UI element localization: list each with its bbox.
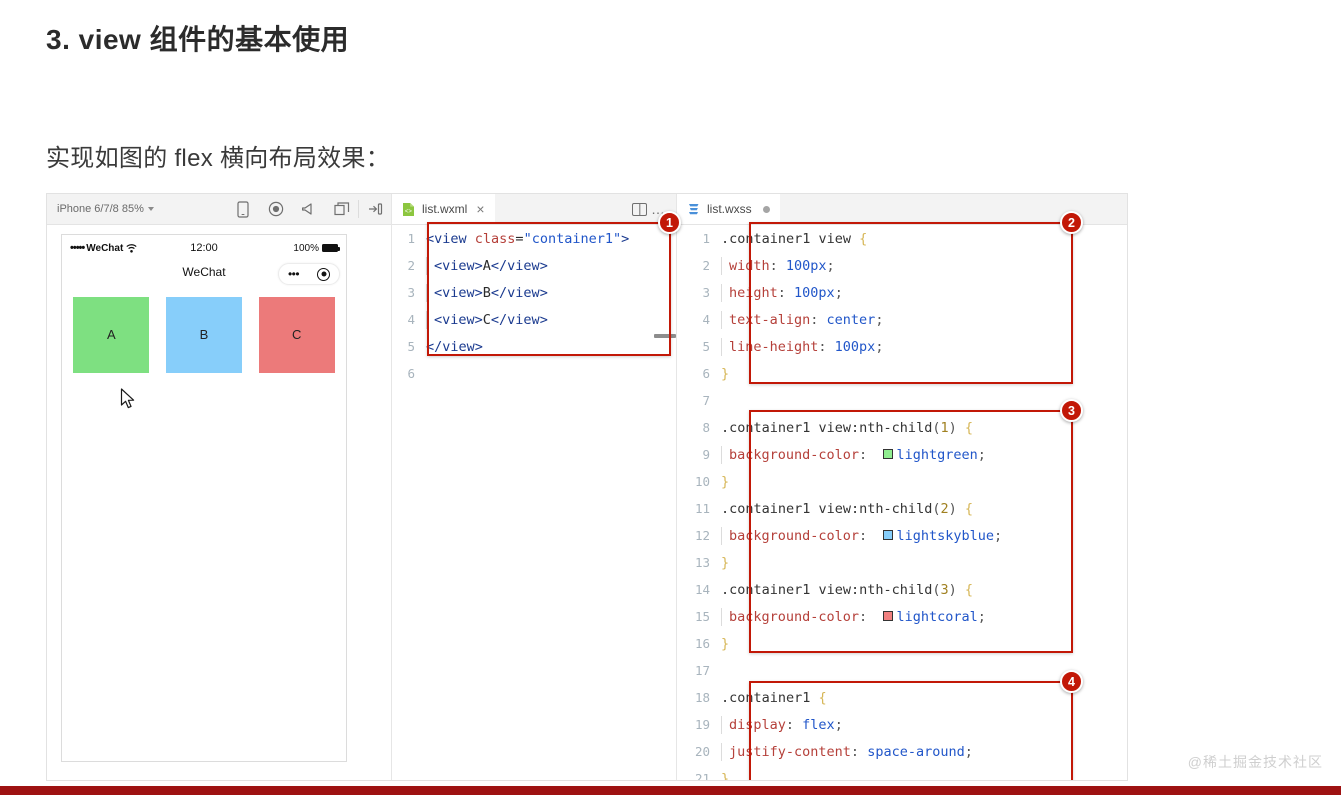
mouse-cursor-icon — [120, 388, 137, 410]
code-token: <view> — [434, 312, 483, 328]
code-token: } — [721, 771, 729, 781]
code-text: .container1 view { — [721, 231, 867, 247]
indent-guide — [426, 257, 427, 275]
code-token: ; — [994, 528, 1002, 544]
code-line[interactable]: 4text-align: center; — [677, 306, 1128, 333]
code-token: lightgreen — [896, 447, 977, 463]
preview-box: B — [166, 297, 242, 373]
wxml-file-icon: <> — [402, 202, 415, 217]
code-token: 100px — [786, 258, 827, 274]
line-number: 10 — [677, 474, 721, 489]
code-token: { — [965, 420, 973, 436]
svg-text:<>: <> — [405, 209, 413, 215]
code-token: background-color — [729, 447, 859, 463]
indent-guide — [721, 311, 722, 329]
phone-icon[interactable] — [226, 194, 259, 225]
code-line[interactable]: 9background-color: lightgreen; — [677, 441, 1128, 468]
wechat-devtools-window: iPhone 6/7/8 85% — [46, 193, 1128, 781]
wxml-editor-panel: <> list.wxml × … 1<view class="container… — [392, 194, 676, 780]
code-text: } — [721, 636, 729, 652]
code-token: } — [721, 366, 729, 382]
line-number: 15 — [677, 609, 721, 624]
code-token: .container1 view:nth-child — [721, 582, 932, 598]
unsaved-indicator-icon — [763, 206, 770, 213]
code-token: ; — [875, 312, 883, 328]
code-line[interactable]: 5</view> — [392, 333, 676, 360]
tab-list-wxss[interactable]: list.wxss — [677, 194, 780, 224]
code-token: : — [770, 258, 786, 274]
code-token: } — [721, 636, 729, 652]
indent-guide — [721, 527, 722, 545]
status-bar-left: ••••• WeChat — [70, 242, 137, 254]
signal-dots-icon: ••••• — [70, 242, 84, 254]
code-token: line-height — [729, 339, 818, 355]
code-line[interactable]: 3<view>B</view> — [392, 279, 676, 306]
device-selector[interactable]: iPhone 6/7/8 85% — [57, 203, 154, 215]
bottom-accent-bar — [0, 786, 1341, 795]
line-number: 18 — [677, 690, 721, 705]
chevron-down-icon — [148, 207, 154, 211]
code-token: ; — [978, 447, 986, 463]
line-number: 2 — [392, 258, 426, 273]
code-line[interactable]: 5line-height: 100px; — [677, 333, 1128, 360]
simulator-toolbar-icons — [226, 194, 392, 225]
code-token: <view> — [434, 258, 483, 274]
code-text: display: flex; — [721, 716, 843, 734]
code-line[interactable]: 6} — [677, 360, 1128, 387]
preview-box: A — [73, 297, 149, 373]
code-token: <view — [426, 231, 475, 247]
line-number: 7 — [677, 393, 721, 408]
line-number: 20 — [677, 744, 721, 759]
code-token: ; — [965, 744, 973, 760]
line-number: 6 — [392, 366, 426, 381]
code-token: ) — [949, 582, 965, 598]
code-line[interactable]: 18.container1 { — [677, 684, 1128, 711]
code-line[interactable]: 1<view class="container1"> — [392, 225, 676, 252]
line-number: 5 — [677, 339, 721, 354]
code-text: line-height: 100px; — [721, 338, 883, 356]
line-number: 19 — [677, 717, 721, 732]
tab-list-wxml[interactable]: <> list.wxml × — [392, 194, 495, 224]
color-swatch-icon[interactable] — [883, 449, 893, 459]
code-token: : — [786, 717, 802, 733]
code-text: background-color: lightgreen; — [721, 446, 986, 464]
code-token: lightskyblue — [896, 528, 994, 544]
wxss-file-icon — [687, 202, 700, 217]
code-token: : — [851, 744, 867, 760]
code-text: } — [721, 474, 729, 490]
split-editor-icon[interactable] — [632, 203, 647, 216]
color-swatch-icon[interactable] — [883, 611, 893, 621]
code-text: <view class="container1"> — [426, 231, 629, 247]
code-token: ; — [827, 258, 835, 274]
preview-box: C — [259, 297, 335, 373]
indent-guide — [721, 338, 722, 356]
indent-guide — [426, 284, 427, 302]
code-line[interactable]: 10} — [677, 468, 1128, 495]
code-token: display — [729, 717, 786, 733]
code-token: flex — [802, 717, 835, 733]
wxml-code-area[interactable]: 1<view class="container1">2<view>A</view… — [392, 225, 676, 780]
code-token: ; — [875, 339, 883, 355]
code-line[interactable]: 13} — [677, 549, 1128, 576]
indent-guide — [721, 284, 722, 302]
tabbar-filler — [495, 194, 632, 224]
simulator-panel: iPhone 6/7/8 85% — [47, 194, 359, 780]
code-token: C — [483, 312, 491, 328]
line-number: 4 — [392, 312, 426, 327]
color-swatch-icon[interactable] — [883, 530, 893, 540]
line-number: 4 — [677, 312, 721, 327]
code-line[interactable]: 21} — [677, 765, 1128, 780]
simulator-toolbar: iPhone 6/7/8 85% — [47, 194, 392, 225]
code-line[interactable]: 4<view>C</view> — [392, 306, 676, 333]
code-text: height: 100px; — [721, 284, 843, 302]
code-token: class — [475, 231, 516, 247]
code-token: } — [721, 555, 729, 571]
code-text: .container1 { — [721, 690, 827, 706]
code-token: 2 — [940, 501, 948, 517]
code-token: : — [818, 339, 834, 355]
line-number: 6 — [677, 366, 721, 381]
code-line[interactable]: 1.container1 view { — [677, 225, 1128, 252]
code-token: lightcoral — [896, 609, 977, 625]
code-token: A — [483, 258, 491, 274]
line-number: 12 — [677, 528, 721, 543]
code-token: > — [621, 231, 629, 247]
code-token: } — [721, 474, 729, 490]
code-token: space-around — [867, 744, 965, 760]
annotation-badge: 2 — [1060, 211, 1083, 234]
code-token: { — [965, 582, 973, 598]
watermark: @稀土掘金技术社区 — [1188, 752, 1323, 772]
code-token: : — [810, 312, 826, 328]
line-number: 2 — [677, 258, 721, 273]
code-line[interactable]: 2<view>A</view> — [392, 252, 676, 279]
code-token: : — [778, 285, 794, 301]
code-token: </view> — [491, 312, 548, 328]
code-text: .container1 view:nth-child(3) { — [721, 582, 973, 598]
wechat-capsule[interactable]: ••• — [278, 263, 340, 285]
indent-guide — [721, 257, 722, 275]
code-token: = — [515, 231, 523, 247]
indent-guide — [426, 311, 427, 329]
line-number: 21 — [677, 771, 721, 780]
code-line[interactable]: 6 — [392, 360, 676, 387]
code-text: </view> — [426, 339, 483, 355]
page-title: 3. view 组件的基本使用 — [46, 18, 349, 58]
code-text: <view>C</view> — [426, 311, 548, 329]
indent-guide — [721, 716, 722, 734]
code-text: background-color: lightskyblue; — [721, 527, 1002, 545]
phone-screen: ••••• WeChat 12:00 100% WeChat ••• — [61, 234, 347, 762]
battery-icon — [322, 244, 338, 252]
annotation-badge: 3 — [1060, 399, 1083, 422]
code-line[interactable]: 8.container1 view:nth-child(1) { — [677, 414, 1128, 441]
code-line[interactable]: 19display: flex; — [677, 711, 1128, 738]
indent-guide — [721, 608, 722, 626]
volume-icon[interactable] — [292, 194, 325, 225]
code-line[interactable]: 15background-color: lightcoral; — [677, 603, 1128, 630]
code-token: 100px — [794, 285, 835, 301]
code-token: { — [859, 231, 867, 247]
code-token: "container1" — [524, 231, 622, 247]
code-token: : — [859, 609, 883, 625]
annotation-badge: 1 — [658, 211, 681, 234]
page-subtitle: 实现如图的 flex 横向布局效果： — [46, 138, 390, 173]
code-text: <view>B</view> — [426, 284, 548, 302]
code-text: background-color: lightcoral; — [721, 608, 986, 626]
code-token: ; — [978, 609, 986, 625]
code-token: <view> — [434, 285, 483, 301]
code-token: ; — [835, 285, 843, 301]
code-line[interactable]: 12background-color: lightskyblue; — [677, 522, 1128, 549]
status-bar-right: 100% — [293, 243, 338, 254]
wxml-tabbar: <> list.wxml × … — [392, 194, 676, 225]
code-text: .container1 view:nth-child(2) { — [721, 501, 973, 517]
line-number: 3 — [677, 285, 721, 300]
code-token: : — [859, 447, 883, 463]
windows-icon[interactable] — [325, 194, 358, 225]
code-token: </view> — [491, 258, 548, 274]
indent-guide — [721, 743, 722, 761]
code-token: 100px — [835, 339, 876, 355]
code-token: 3 — [940, 582, 948, 598]
code-line[interactable]: 11.container1 view:nth-child(2) { — [677, 495, 1128, 522]
line-number: 16 — [677, 636, 721, 651]
code-token: : — [859, 528, 883, 544]
collapse-icon[interactable] — [359, 194, 392, 225]
capsule-close-icon[interactable] — [317, 268, 330, 281]
code-line[interactable]: 14.container1 view:nth-child(3) { — [677, 576, 1128, 603]
code-token: ) — [949, 501, 965, 517]
code-token: width — [729, 258, 770, 274]
code-token: ; — [835, 717, 843, 733]
code-token: { — [819, 690, 827, 706]
code-token: </view> — [426, 339, 483, 355]
code-line[interactable]: 3height: 100px; — [677, 279, 1128, 306]
carrier-label: WeChat — [86, 243, 123, 254]
container1-preview: A B C — [62, 291, 346, 373]
code-token: center — [827, 312, 876, 328]
line-number: 1 — [392, 231, 426, 246]
code-token: { — [965, 501, 973, 517]
code-text: } — [721, 555, 729, 571]
line-number: 13 — [677, 555, 721, 570]
code-token: .container1 view:nth-child — [721, 420, 932, 436]
annotation-badge: 4 — [1060, 670, 1083, 693]
line-number: 8 — [677, 420, 721, 435]
code-token: </view> — [491, 285, 548, 301]
code-text: <view>A</view> — [426, 257, 548, 275]
wxss-editor-panel: list.wxss 1.container1 view {2width: 100… — [677, 194, 1128, 780]
wxss-code-area[interactable]: 1.container1 view {2width: 100px;3height… — [677, 225, 1128, 780]
code-text: .container1 view:nth-child(1) { — [721, 420, 973, 436]
code-text: text-align: center; — [721, 311, 883, 329]
code-token: .container1 — [721, 690, 819, 706]
code-token: height — [729, 285, 778, 301]
line-number: 1 — [677, 231, 721, 246]
tab-label: list.wxss — [707, 202, 752, 216]
capsule-menu-icon[interactable]: ••• — [288, 267, 299, 281]
tab-label: list.wxml — [422, 202, 467, 216]
indent-guide — [721, 446, 722, 464]
code-token: background-color — [729, 609, 859, 625]
code-token: justify-content — [729, 744, 851, 760]
code-text: width: 100px; — [721, 257, 835, 275]
code-text: } — [721, 771, 729, 781]
code-token: text-align — [729, 312, 810, 328]
code-token: B — [483, 285, 491, 301]
battery-percent-label: 100% — [293, 243, 319, 254]
line-number: 5 — [392, 339, 426, 354]
code-line[interactable]: 2width: 100px; — [677, 252, 1128, 279]
code-line[interactable]: 20justify-content: space-around; — [677, 738, 1128, 765]
line-number: 11 — [677, 501, 721, 516]
code-token: .container1 view — [721, 231, 859, 247]
record-icon[interactable] — [259, 194, 292, 225]
wifi-icon — [126, 244, 137, 253]
phone-nav-bar: WeChat ••• — [62, 261, 346, 291]
line-number: 9 — [677, 447, 721, 462]
device-label: iPhone 6/7/8 85% — [57, 203, 144, 215]
code-token: .container1 view:nth-child — [721, 501, 932, 517]
code-text: justify-content: space-around; — [721, 743, 973, 761]
code-text: } — [721, 366, 729, 382]
code-line[interactable]: 16} — [677, 630, 1128, 657]
slide-page: 3. view 组件的基本使用 实现如图的 flex 横向布局效果： iPhon… — [0, 0, 1341, 795]
close-icon[interactable]: × — [476, 202, 484, 216]
code-token: background-color — [729, 528, 859, 544]
line-number: 17 — [677, 663, 721, 678]
line-number: 3 — [392, 285, 426, 300]
wxml-scrollbar-thumb[interactable] — [654, 334, 676, 338]
code-token: ) — [949, 420, 965, 436]
code-token: 1 — [940, 420, 948, 436]
line-number: 14 — [677, 582, 721, 597]
phone-status-bar: ••••• WeChat 12:00 100% — [62, 235, 346, 261]
